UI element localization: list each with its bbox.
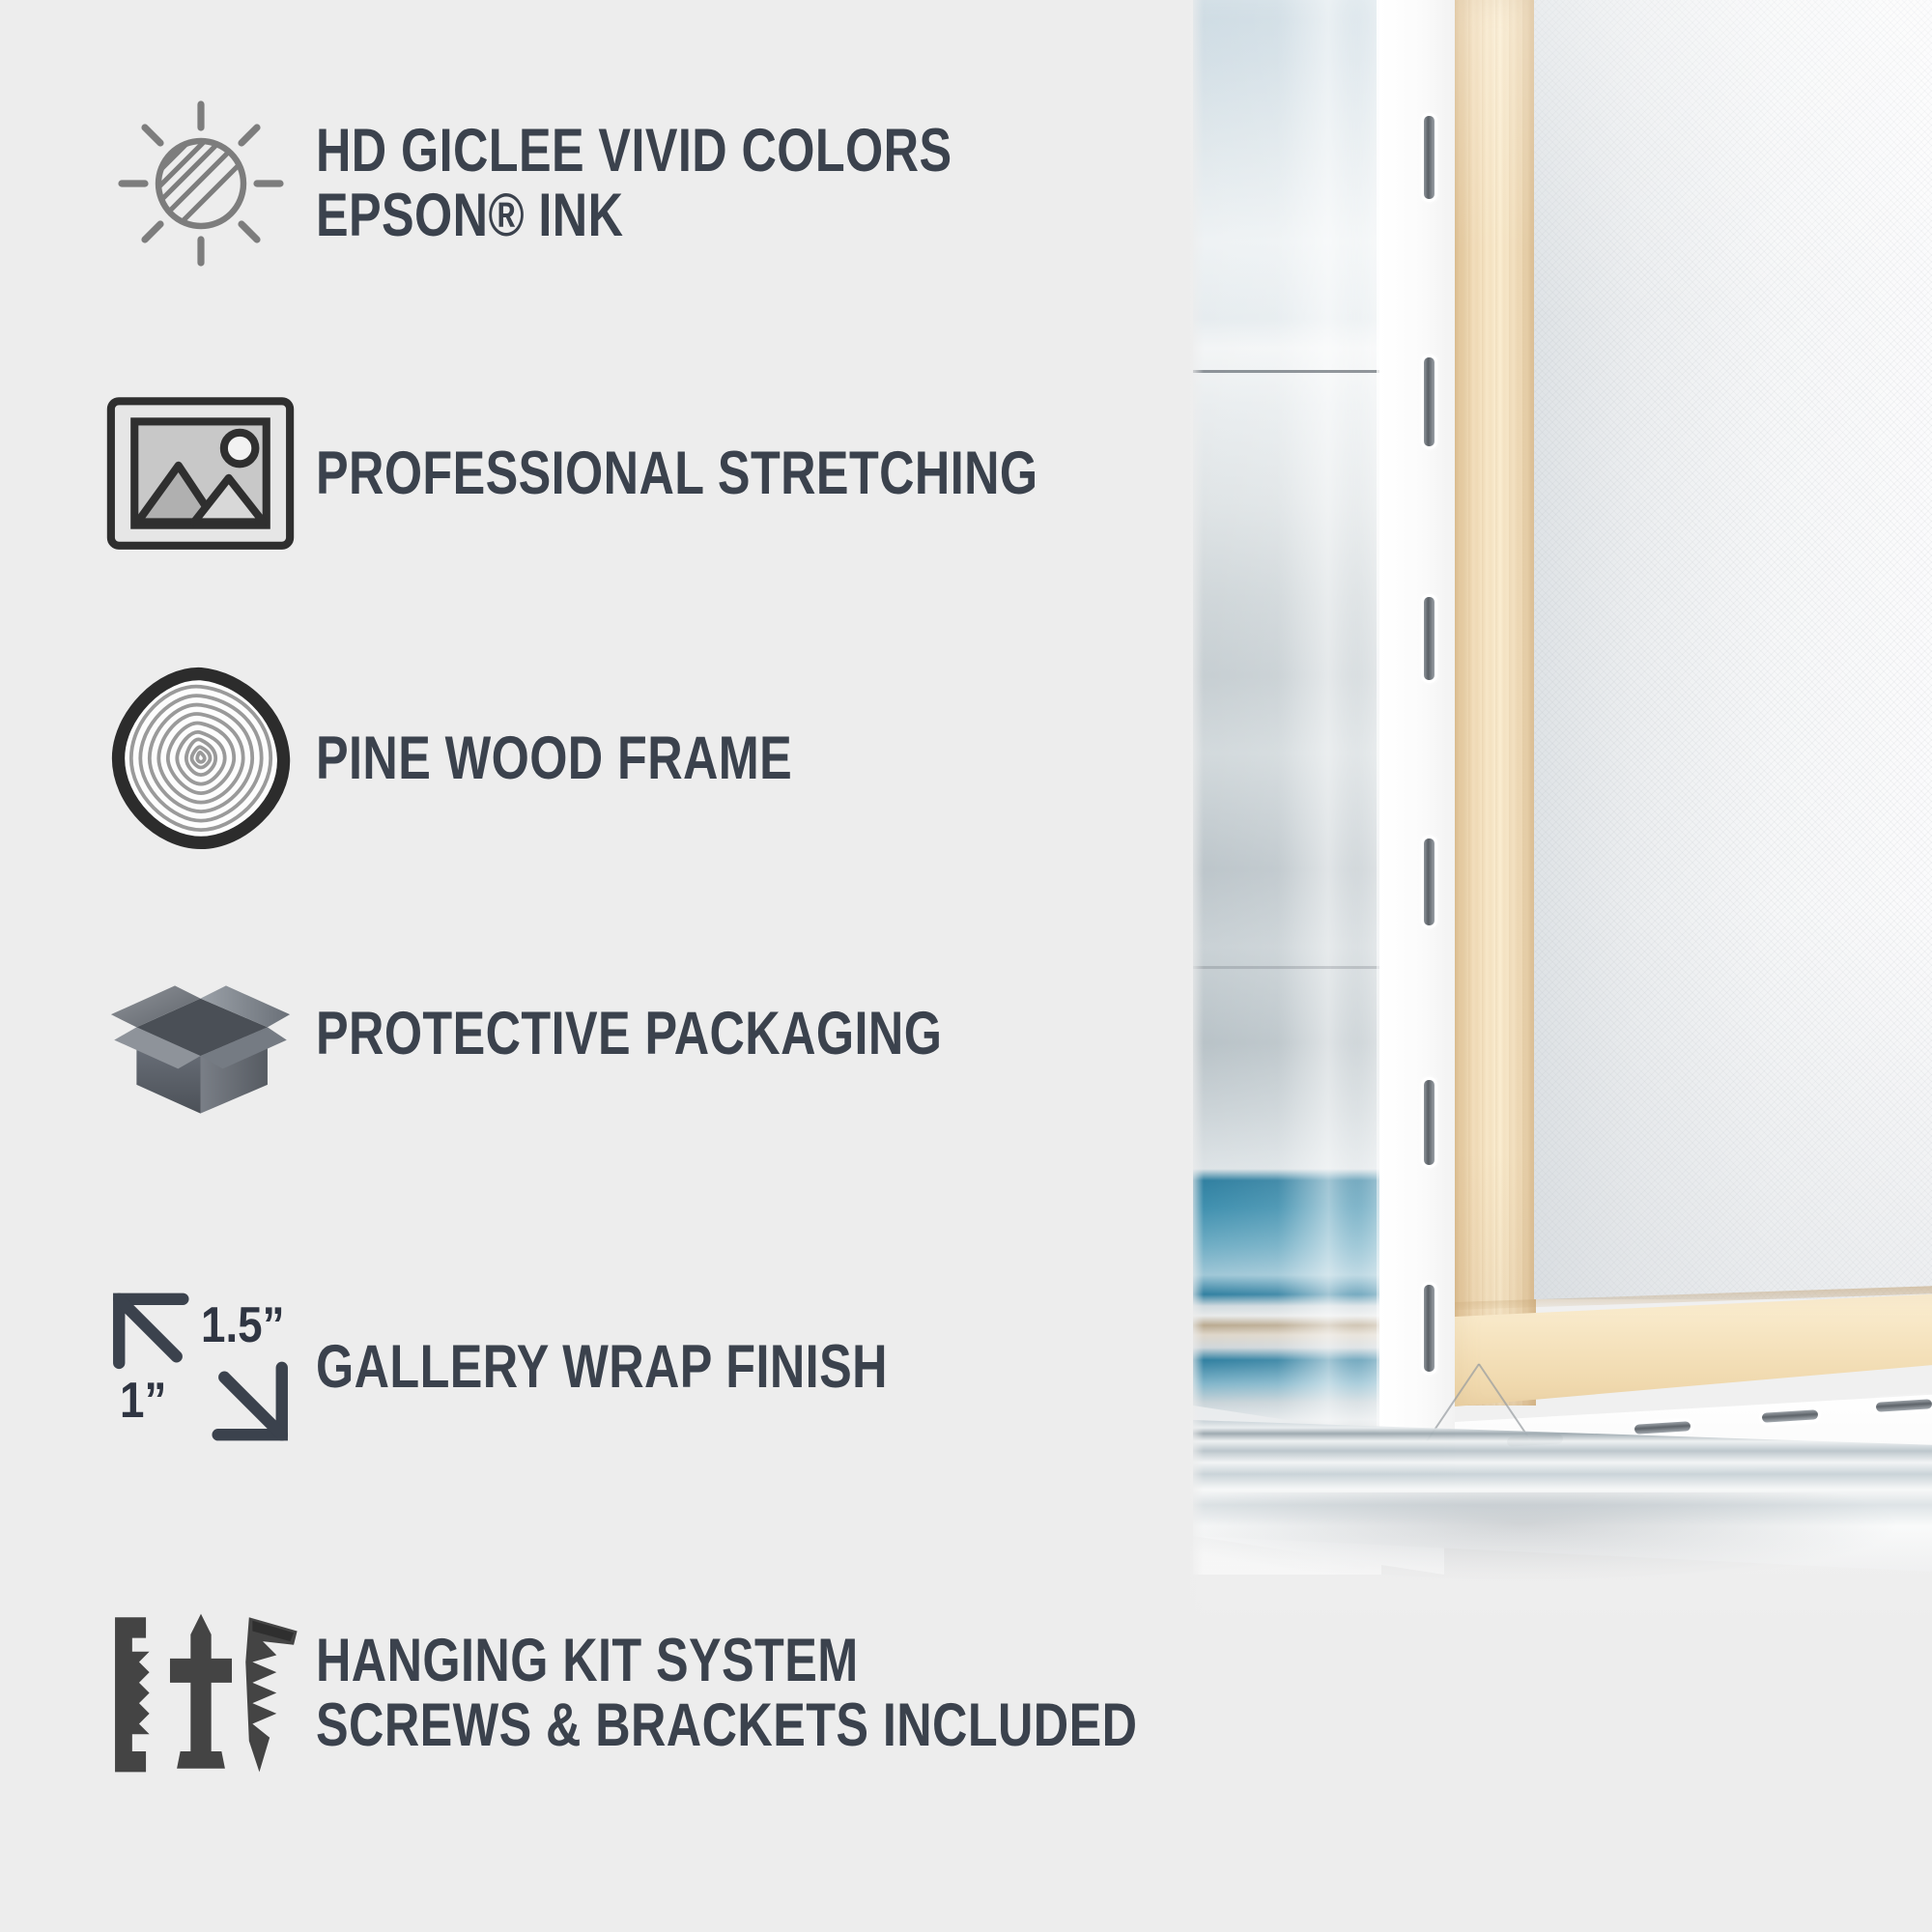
pine-stretcher-bar-vertical	[1455, 0, 1536, 1406]
feature-label: PROFESSIONAL STRETCHING	[316, 441, 1038, 506]
hardware-icon	[97, 1604, 304, 1782]
feature-label: GALLERY WRAP FINISH	[316, 1335, 888, 1400]
feature-pine-wood-frame: PINE WOOD FRAME	[97, 667, 912, 850]
staple	[1424, 597, 1435, 680]
canvas-wrap-white-column	[1379, 0, 1455, 1546]
staple	[1424, 116, 1435, 199]
tree-rings-icon	[97, 667, 304, 850]
staple	[1424, 357, 1435, 446]
feature-label: PINE WOOD FRAME	[316, 726, 792, 791]
staple	[1424, 1285, 1435, 1372]
feature-professional-stretching: PROFESSIONAL STRETCHING	[97, 396, 1218, 551]
infographic-canvas: HD GICLEE VIVID COLORS EPSON® INK PROFES…	[0, 0, 1932, 1932]
open-box-icon	[97, 947, 304, 1121]
feature-label: HD GICLEE VIVID COLORS EPSON® INK	[316, 119, 952, 248]
printed-canvas-edge	[1193, 0, 1381, 1575]
feature-label: PROTECTIVE PACKAGING	[316, 1002, 942, 1066]
depth-dimension-label: 1.5”	[201, 1296, 285, 1354]
photo-left-fade	[1188, 0, 1204, 1642]
dimension-arrows-icon: 1.5” 1”	[97, 1275, 304, 1459]
canvas-back-texture	[1534, 0, 1932, 1299]
feature-hd-giclee: HD GICLEE VIVID COLORS EPSON® INK	[97, 87, 1111, 280]
staple	[1424, 1080, 1435, 1165]
canvas-edge-rule-mid	[1193, 966, 1381, 969]
feature-gallery-wrap-finish: 1.5” 1” GALLERY WRAP FINISH	[97, 1275, 1031, 1459]
width-dimension-label: 1”	[120, 1372, 166, 1430]
feature-hanging-kit-system: HANGING KIT SYSTEM SCREWS & BRACKETS INC…	[97, 1604, 1343, 1782]
feature-label: HANGING KIT SYSTEM SCREWS & BRACKETS INC…	[316, 1629, 1137, 1758]
canvas-edge-rule-top	[1193, 370, 1381, 373]
staple	[1424, 838, 1435, 925]
feature-protective-packaging: PROTECTIVE PACKAGING	[97, 947, 1098, 1121]
sun-icon	[97, 87, 304, 280]
canvas-corner-photo	[1188, 0, 1932, 1642]
picture-frame-icon	[97, 396, 304, 551]
